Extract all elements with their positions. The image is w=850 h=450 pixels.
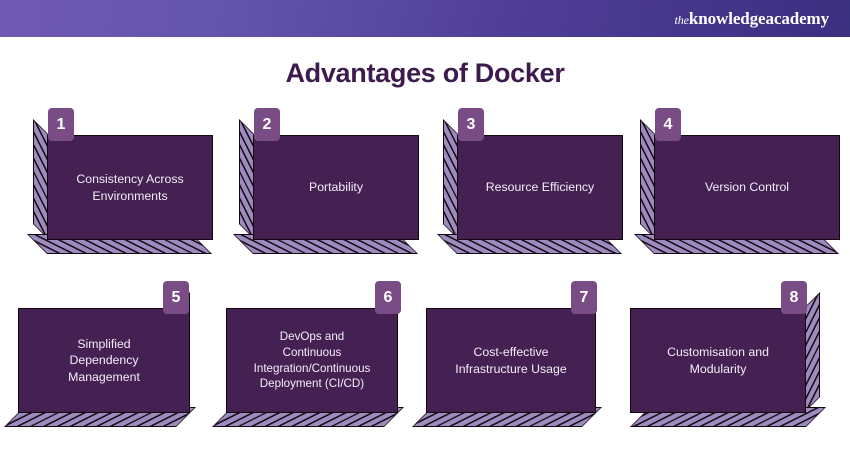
- advantage-card[interactable]: Resource Efficiency: [457, 135, 623, 240]
- card-number-badge: 1: [48, 108, 74, 141]
- card-number: 5: [172, 289, 181, 307]
- card-label: DevOps and Continuous Integration/Contin…: [246, 329, 379, 391]
- card-number: 6: [384, 289, 393, 307]
- card-number-badge: 6: [375, 281, 401, 314]
- advantage-card[interactable]: DevOps and Continuous Integration/Contin…: [226, 308, 398, 413]
- logo-academy-text: academy: [765, 9, 829, 28]
- card-number-badge: 7: [571, 281, 597, 314]
- card-number: 7: [580, 289, 589, 307]
- advantage-card[interactable]: Simplified Dependency Management: [18, 308, 190, 413]
- card-number: 1: [57, 116, 66, 134]
- card-number-badge: 2: [254, 108, 280, 141]
- page-title: Advantages of Docker: [0, 58, 850, 89]
- card-cell: 4 Version Control: [620, 105, 850, 255]
- logo-the-text: the: [675, 13, 689, 27]
- card-number: 8: [790, 289, 799, 307]
- card-number: 3: [467, 116, 476, 134]
- card-label: Resource Efficiency: [478, 179, 602, 196]
- card-label: Version Control: [697, 179, 797, 196]
- card-number-badge: 3: [458, 108, 484, 141]
- card-label: Consistency Across Environments: [68, 171, 191, 204]
- card-label: Simplified Dependency Management: [60, 336, 148, 386]
- logo-knowledge-text: knowledge: [689, 9, 766, 28]
- card-cell: 5 Simplified Dependency Management: [0, 278, 212, 428]
- page-header: theknowledgeacademy: [0, 0, 850, 37]
- card-cell: 3 Resource Efficiency: [420, 105, 620, 255]
- advantage-card[interactable]: Cost-effective Infrastructure Usage: [426, 308, 596, 413]
- card-cell: 7 Cost-effective Infrastructure Usage: [420, 278, 620, 428]
- card-number-badge: 8: [781, 281, 807, 314]
- advantage-card[interactable]: Version Control: [654, 135, 840, 240]
- card-row-1: 1 Consistency Across Environments 2 Port…: [0, 105, 850, 255]
- card-cell: 8 Customisation and Modularity: [620, 278, 850, 428]
- card-row-2: 5 Simplified Dependency Management 6 Dev…: [0, 278, 850, 428]
- card-cell: 2 Portability: [215, 105, 420, 255]
- card-number: 2: [263, 116, 272, 134]
- card-cell: 6 DevOps and Continuous Integration/Cont…: [212, 278, 420, 428]
- card-number: 4: [664, 116, 673, 134]
- advantage-card[interactable]: Customisation and Modularity: [630, 308, 806, 413]
- card-label: Portability: [301, 179, 371, 196]
- advantage-card[interactable]: Portability: [253, 135, 419, 240]
- brand-logo: theknowledgeacademy: [675, 9, 829, 29]
- card-label: Cost-effective Infrastructure Usage: [447, 344, 574, 377]
- card-number-badge: 4: [655, 108, 681, 141]
- card-number-badge: 5: [163, 281, 189, 314]
- advantage-card[interactable]: Consistency Across Environments: [47, 135, 213, 240]
- card-cell: 1 Consistency Across Environments: [0, 105, 215, 255]
- card-label: Customisation and Modularity: [659, 344, 777, 377]
